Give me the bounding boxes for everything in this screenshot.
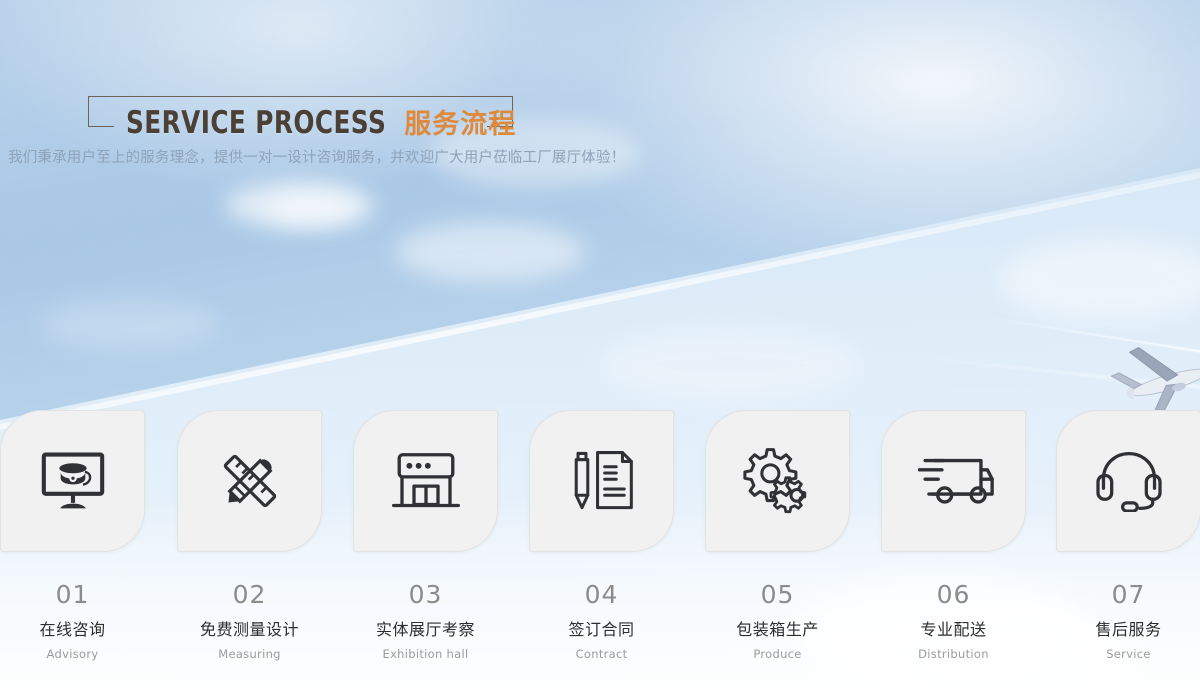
step-icon-card[interactable]: [529, 410, 674, 552]
step-icon-card[interactable]: [177, 410, 322, 552]
pen-document-icon: [569, 449, 635, 513]
service-process-section: SERVICE PROCESS 服务流程 我们秉承用户至上的服务理念，提供一对一…: [0, 0, 1200, 688]
step-label-cn: 签订合同: [568, 616, 634, 640]
process-steps-list: 01 在线咨询 Advisory: [0, 410, 1200, 670]
step-label-en: Measuring: [218, 647, 281, 661]
cloud-decoration: [395, 222, 585, 282]
headset-icon: [1094, 450, 1164, 512]
section-title-en: SERVICE PROCESS: [126, 105, 386, 141]
delivery-truck-icon: [914, 453, 994, 509]
storefront-icon: [390, 451, 462, 512]
step-label-en: Produce: [753, 647, 801, 661]
process-step-01[interactable]: 01 在线咨询 Advisory: [0, 410, 145, 661]
gears-icon: [740, 446, 816, 516]
step-icon-card[interactable]: [1056, 410, 1200, 552]
step-number: 03: [409, 580, 443, 609]
step-number: 04: [585, 580, 619, 609]
ruler-pencil-icon: [216, 447, 284, 515]
step-label-en: Advisory: [47, 647, 99, 661]
step-number: 05: [761, 580, 795, 609]
step-number: 06: [937, 580, 971, 609]
process-step-04[interactable]: 04 签订合同 Contract: [529, 410, 674, 661]
cloud-decoration: [268, 193, 358, 225]
section-subtitle: 我们秉承用户至上的服务理念，提供一对一设计咨询服务，并欢迎广大用户莅临工厂展厅体…: [8, 146, 625, 167]
step-label-en: Exhibition hall: [383, 647, 469, 661]
cloud-decoration: [40, 300, 220, 350]
cloud-decoration: [600, 330, 860, 400]
step-icon-card[interactable]: [881, 410, 1026, 552]
step-number: 02: [233, 580, 267, 609]
monitor-phone-icon: [38, 450, 108, 512]
section-heading: SERVICE PROCESS 服务流程: [88, 96, 513, 148]
step-label-en: Contract: [576, 647, 628, 661]
step-number: 07: [1112, 580, 1146, 609]
process-step-07[interactable]: 07 售后服务 Service: [1056, 410, 1200, 661]
process-step-05[interactable]: 05 包装箱生产 Produce: [705, 410, 850, 661]
step-label-en: Service: [1106, 647, 1151, 661]
step-icon-card[interactable]: [0, 410, 145, 552]
step-label-en: Distribution: [918, 647, 989, 661]
step-number: 01: [56, 580, 90, 609]
step-icon-card[interactable]: [353, 410, 498, 552]
step-label-cn: 实体展厅考察: [376, 616, 475, 640]
step-label-cn: 售后服务: [1095, 616, 1161, 640]
step-label-cn: 在线咨询: [39, 616, 105, 640]
section-title-cn: 服务流程: [404, 102, 516, 141]
process-step-02[interactable]: 02 免费测量设计 Measuring: [177, 410, 322, 661]
process-step-06[interactable]: 06 专业配送 Distribution: [881, 410, 1026, 661]
step-label-cn: 包装箱生产: [736, 616, 819, 640]
step-icon-card[interactable]: [705, 410, 850, 552]
airplane-icon: [1108, 336, 1200, 420]
step-label-cn: 免费测量设计: [200, 616, 299, 640]
process-step-03[interactable]: 03 实体展厅考察 Exhibition hall: [353, 410, 498, 661]
step-label-cn: 专业配送: [920, 616, 986, 640]
